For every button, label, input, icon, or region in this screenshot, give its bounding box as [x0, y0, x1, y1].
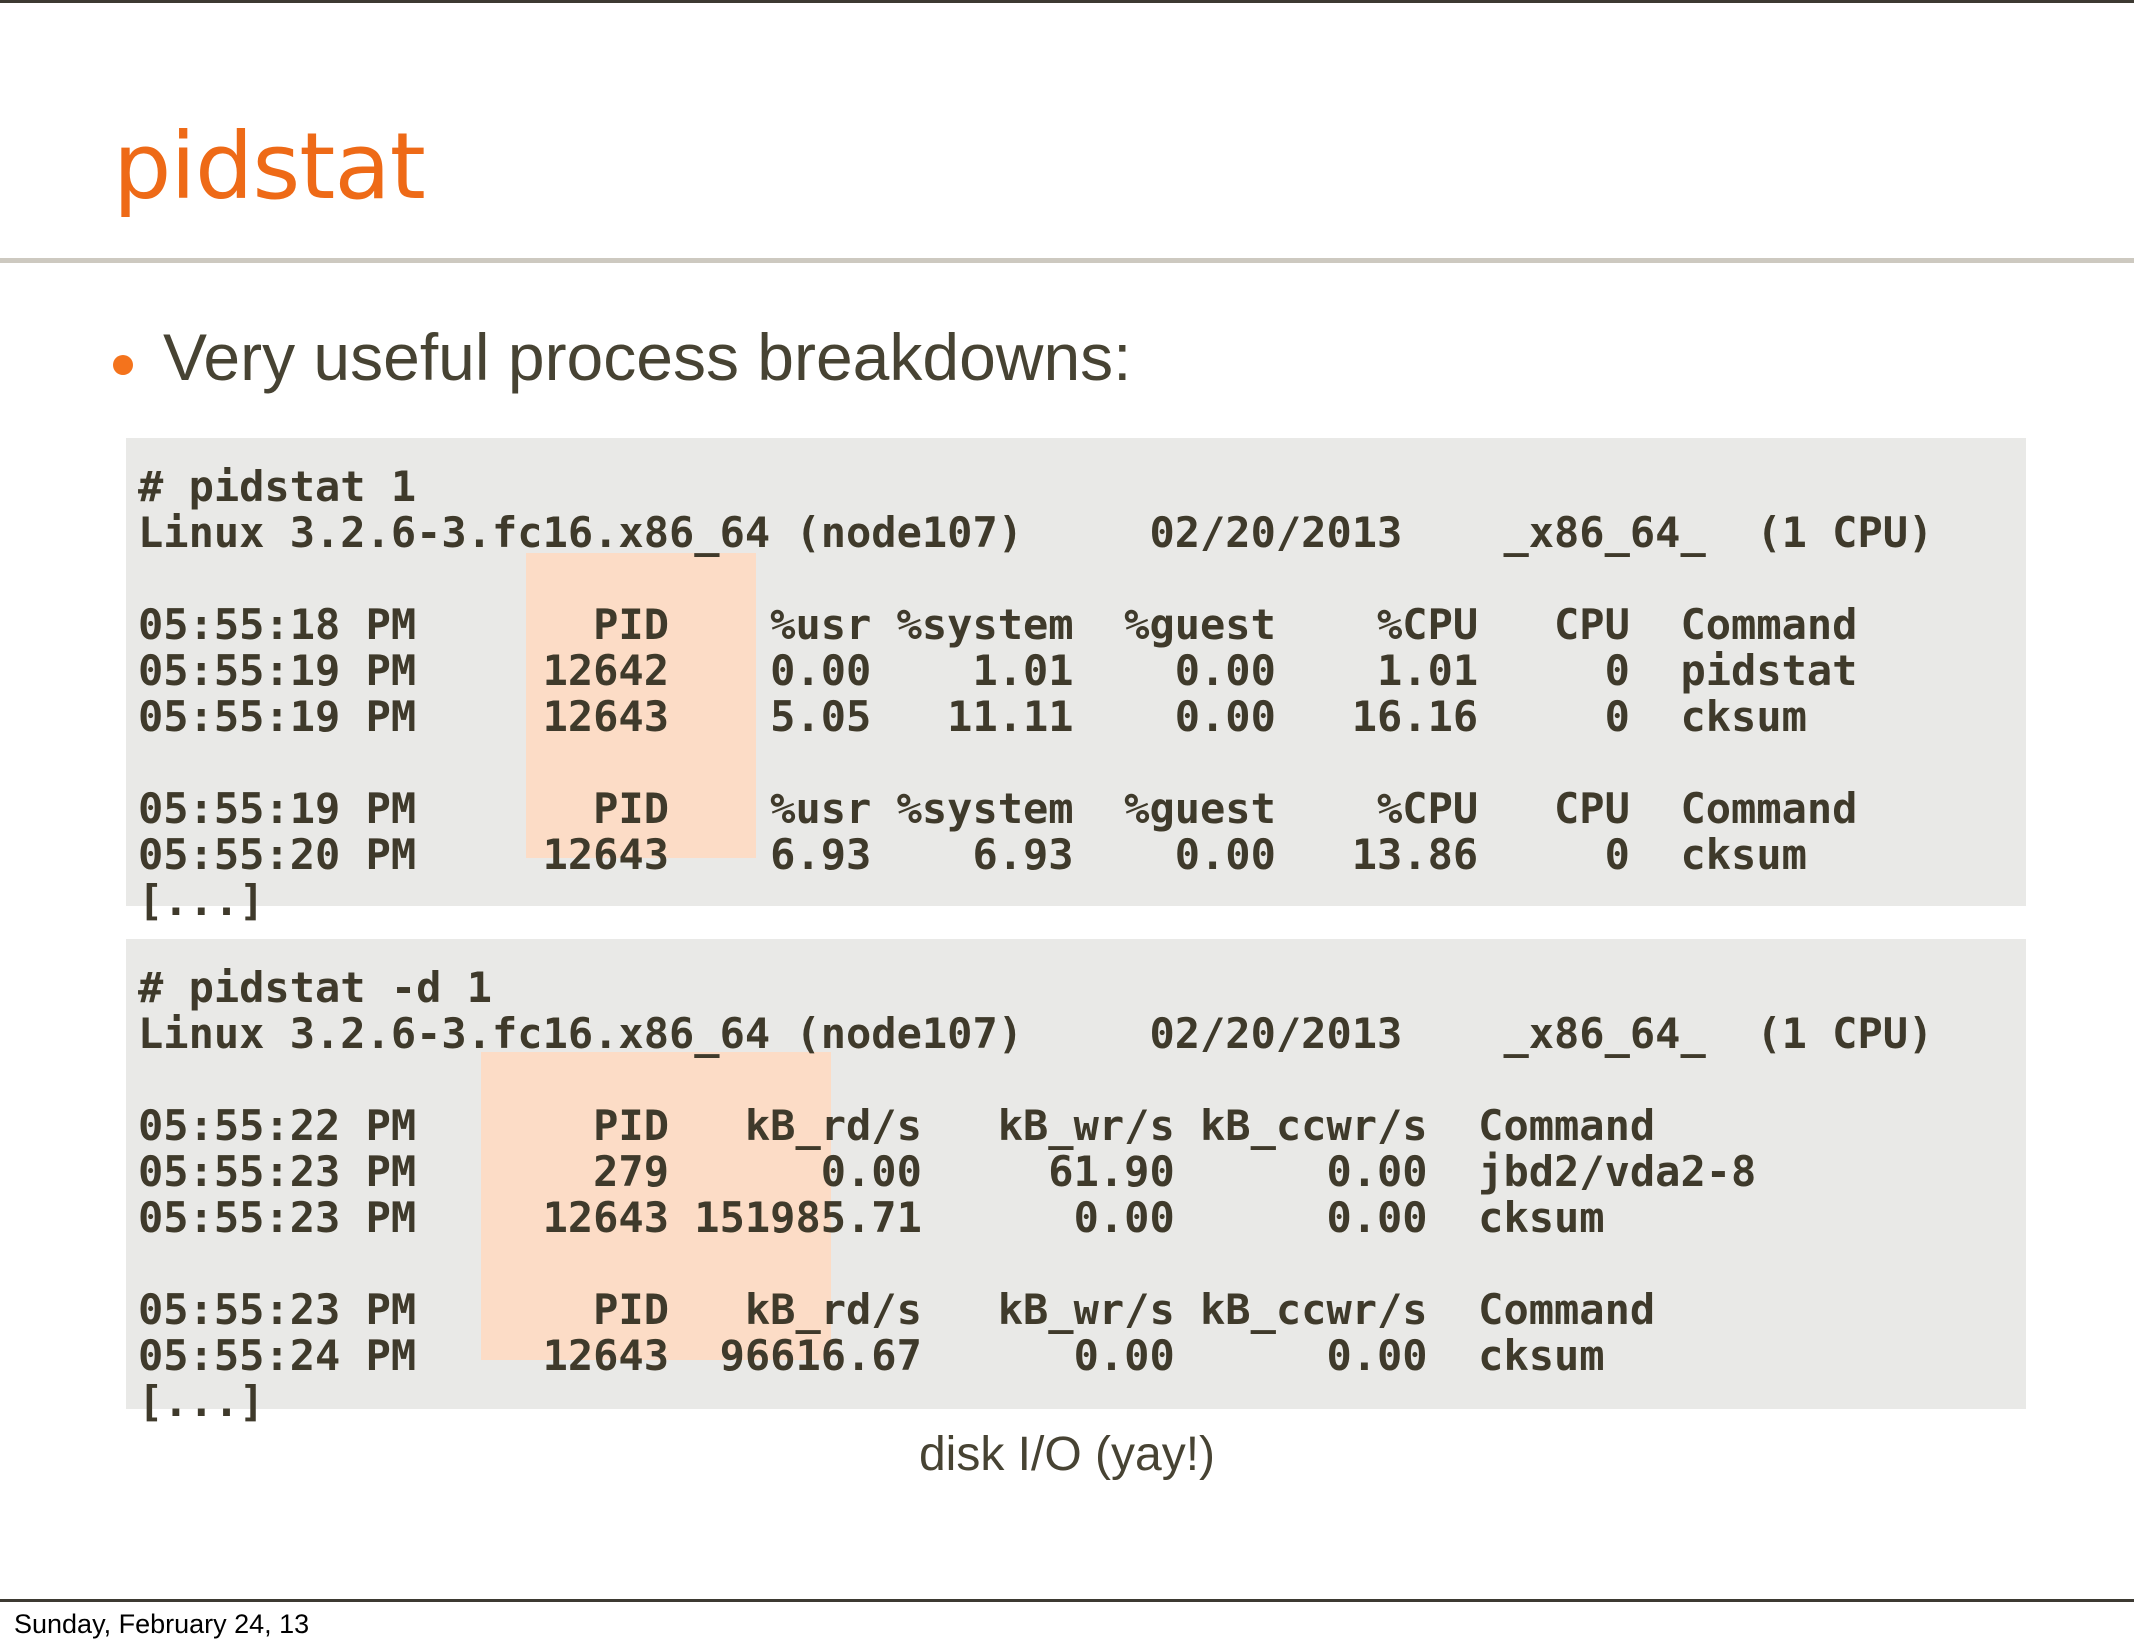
terminal-output-disk: # pidstat -d 1 Linux 3.2.6-3.fc16.x86_64… [126, 939, 2026, 1409]
terminal-text-cpu: # pidstat 1 Linux 3.2.6-3.fc16.x86_64 (n… [126, 438, 2026, 924]
page-title: pidstat [113, 121, 425, 213]
terminal-output-cpu: # pidstat 1 Linux 3.2.6-3.fc16.x86_64 (n… [126, 438, 2026, 906]
bullet-item-label: Very useful process breakdowns: [163, 321, 1132, 394]
terminal-text-disk: # pidstat -d 1 Linux 3.2.6-3.fc16.x86_64… [126, 939, 2026, 1425]
footer-date: Sunday, February 24, 13 [14, 1609, 309, 1640]
bullet-dot-icon [113, 355, 133, 375]
title-divider [0, 258, 2134, 263]
slide-header: pidstat [0, 3, 2134, 260]
caption-label: disk I/O (yay!) [0, 1427, 2134, 1482]
slide-frame: pidstat Very useful process breakdowns: … [0, 0, 2134, 1602]
bullet-list-item: Very useful process breakdowns: [113, 321, 1132, 394]
